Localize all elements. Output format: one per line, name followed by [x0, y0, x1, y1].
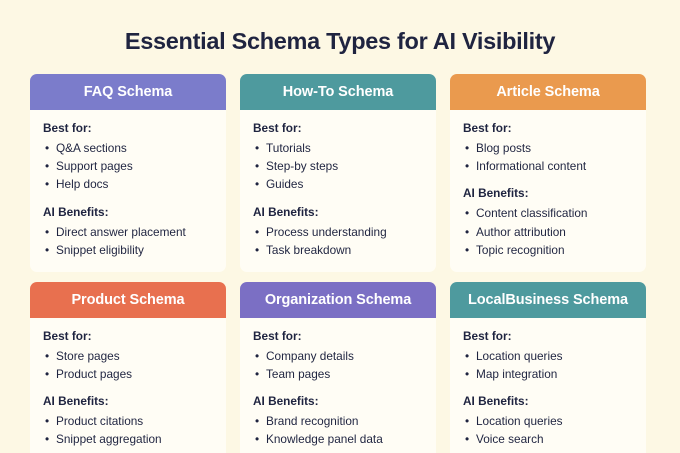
list-item: •Guides	[253, 175, 423, 193]
ai-benefits-list: •Product citations•Snippet aggregation	[43, 412, 213, 449]
schema-card-title: FAQ Schema	[30, 74, 226, 110]
bullet-dot-icon: •	[255, 157, 259, 175]
bullet-dot-icon: •	[465, 139, 469, 157]
bullet-dot-icon: •	[465, 365, 469, 383]
best-for-list: •Tutorials•Step-by steps•Guides	[253, 139, 423, 194]
schema-card-title: Organization Schema	[240, 282, 436, 318]
list-item-label: Blog posts	[476, 141, 531, 155]
list-item-label: Author attribution	[476, 225, 566, 239]
best-for-list: •Location queries•Map integration	[463, 347, 633, 384]
schema-card-body: Best for:•Location queries•Map integrati…	[450, 318, 646, 453]
list-item: •Q&A sections	[43, 139, 213, 157]
bullet-dot-icon: •	[45, 223, 49, 241]
list-item: •Direct answer placement	[43, 223, 213, 241]
bullet-dot-icon: •	[255, 365, 259, 383]
list-item-label: Map integration	[476, 367, 557, 381]
list-item: •Task breakdown	[253, 241, 423, 259]
list-item-label: Direct answer placement	[56, 225, 186, 239]
best-for-heading: Best for:	[253, 121, 423, 136]
list-item: •Voice search	[463, 430, 633, 448]
list-item: •Step-by steps	[253, 157, 423, 175]
bullet-dot-icon: •	[45, 139, 49, 157]
list-item-label: Task breakdown	[266, 243, 351, 257]
list-item-label: Snippet aggregation	[56, 432, 162, 446]
list-item-label: Process understanding	[266, 225, 387, 239]
list-item: •Blog posts	[463, 139, 633, 157]
list-item-label: Location queries	[476, 414, 563, 428]
ai-benefits-heading: AI Benefits:	[463, 394, 633, 409]
best-for-list: •Blog posts•Informational content	[463, 139, 633, 176]
list-item: •Content classification	[463, 204, 633, 222]
list-item-label: Store pages	[56, 349, 120, 363]
best-for-list: •Q&A sections•Support pages•Help docs	[43, 139, 213, 194]
list-item: •Brand recognition	[253, 412, 423, 430]
schema-card-grid: FAQ SchemaBest for:•Q&A sections•Support…	[0, 74, 680, 453]
list-item: •Help docs	[43, 175, 213, 193]
list-item-label: Product citations	[56, 414, 143, 428]
bullet-dot-icon: •	[465, 430, 469, 448]
bullet-dot-icon: •	[255, 412, 259, 430]
bullet-dot-icon: •	[255, 241, 259, 259]
list-item: •Process understanding	[253, 223, 423, 241]
list-item-label: Content classification	[476, 206, 587, 220]
schema-card: LocalBusiness SchemaBest for:•Location q…	[450, 282, 646, 453]
schema-card-body: Best for:•Store pages•Product pagesAI Be…	[30, 318, 226, 453]
list-item: •Informational content	[463, 157, 633, 175]
bullet-dot-icon: •	[255, 223, 259, 241]
list-item: •Snippet eligibility	[43, 241, 213, 259]
bullet-dot-icon: •	[45, 241, 49, 259]
schema-card-title: Product Schema	[30, 282, 226, 318]
schema-card-body: Best for:•Q&A sections•Support pages•Hel…	[30, 110, 226, 272]
ai-benefits-list: •Direct answer placement•Snippet eligibi…	[43, 223, 213, 260]
list-item-label: Q&A sections	[56, 141, 127, 155]
list-item-label: Tutorials	[266, 141, 311, 155]
ai-benefits-list: •Content classification•Author attributi…	[463, 204, 633, 259]
schema-card-title: Article Schema	[450, 74, 646, 110]
list-item: •Topic recognition	[463, 241, 633, 259]
bullet-dot-icon: •	[45, 157, 49, 175]
list-item: •Team pages	[253, 365, 423, 383]
list-item-label: Step-by steps	[266, 159, 338, 173]
schema-card-title: How-To Schema	[240, 74, 436, 110]
schema-card: FAQ SchemaBest for:•Q&A sections•Support…	[30, 74, 226, 272]
best-for-heading: Best for:	[463, 121, 633, 136]
list-item: •Snippet aggregation	[43, 430, 213, 448]
schema-card: Organization SchemaBest for:•Company det…	[240, 282, 436, 453]
list-item-label: Brand recognition	[266, 414, 358, 428]
bullet-dot-icon: •	[45, 347, 49, 365]
list-item: •Tutorials	[253, 139, 423, 157]
ai-benefits-heading: AI Benefits:	[463, 186, 633, 201]
bullet-dot-icon: •	[465, 412, 469, 430]
list-item: •Company details	[253, 347, 423, 365]
bullet-dot-icon: •	[465, 241, 469, 259]
bullet-dot-icon: •	[465, 347, 469, 365]
list-item-label: Knowledge panel data	[266, 432, 383, 446]
list-item-label: Support pages	[56, 159, 133, 173]
bullet-dot-icon: •	[45, 412, 49, 430]
bullet-dot-icon: •	[255, 175, 259, 193]
bullet-dot-icon: •	[45, 430, 49, 448]
schema-card: Product SchemaBest for:•Store pages•Prod…	[30, 282, 226, 453]
best-for-list: •Company details•Team pages	[253, 347, 423, 384]
ai-benefits-list: •Location queries•Voice search	[463, 412, 633, 449]
bullet-dot-icon: •	[465, 204, 469, 222]
list-item-label: Snippet eligibility	[56, 243, 144, 257]
bullet-dot-icon: •	[255, 139, 259, 157]
bullet-dot-icon: •	[255, 430, 259, 448]
best-for-heading: Best for:	[253, 329, 423, 344]
ai-benefits-heading: AI Benefits:	[253, 205, 423, 220]
list-item: •Location queries	[463, 347, 633, 365]
schema-card-body: Best for:•Tutorials•Step-by steps•Guides…	[240, 110, 436, 272]
list-item-label: Guides	[266, 177, 303, 191]
best-for-heading: Best for:	[43, 329, 213, 344]
schema-card-body: Best for:•Blog posts•Informational conte…	[450, 110, 646, 272]
best-for-list: •Store pages•Product pages	[43, 347, 213, 384]
list-item: •Knowledge panel data	[253, 430, 423, 448]
ai-benefits-heading: AI Benefits:	[43, 394, 213, 409]
list-item: •Map integration	[463, 365, 633, 383]
ai-benefits-heading: AI Benefits:	[43, 205, 213, 220]
list-item: •Product citations	[43, 412, 213, 430]
list-item: •Product pages	[43, 365, 213, 383]
best-for-heading: Best for:	[43, 121, 213, 136]
list-item-label: Help docs	[56, 177, 108, 191]
schema-card: Article SchemaBest for:•Blog posts•Infor…	[450, 74, 646, 272]
list-item-label: Product pages	[56, 367, 132, 381]
bullet-dot-icon: •	[45, 175, 49, 193]
list-item-label: Company details	[266, 349, 354, 363]
list-item-label: Voice search	[476, 432, 544, 446]
infographic-root: Essential Schema Types for AI Visibility…	[0, 0, 680, 453]
ai-benefits-heading: AI Benefits:	[253, 394, 423, 409]
list-item: •Support pages	[43, 157, 213, 175]
schema-card: How-To SchemaBest for:•Tutorials•Step-by…	[240, 74, 436, 272]
list-item-label: Team pages	[266, 367, 330, 381]
page-title: Essential Schema Types for AI Visibility	[0, 0, 680, 55]
list-item-label: Location queries	[476, 349, 563, 363]
bullet-dot-icon: •	[255, 347, 259, 365]
schema-card-title: LocalBusiness Schema	[450, 282, 646, 318]
schema-card-body: Best for:•Company details•Team pagesAI B…	[240, 318, 436, 453]
bullet-dot-icon: •	[45, 365, 49, 383]
bullet-dot-icon: •	[465, 223, 469, 241]
ai-benefits-list: •Process understanding•Task breakdown	[253, 223, 423, 260]
list-item-label: Informational content	[476, 159, 586, 173]
list-item-label: Topic recognition	[476, 243, 565, 257]
list-item: •Author attribution	[463, 223, 633, 241]
list-item: •Location queries	[463, 412, 633, 430]
list-item: •Store pages	[43, 347, 213, 365]
ai-benefits-list: •Brand recognition•Knowledge panel data	[253, 412, 423, 449]
best-for-heading: Best for:	[463, 329, 633, 344]
bullet-dot-icon: •	[465, 157, 469, 175]
